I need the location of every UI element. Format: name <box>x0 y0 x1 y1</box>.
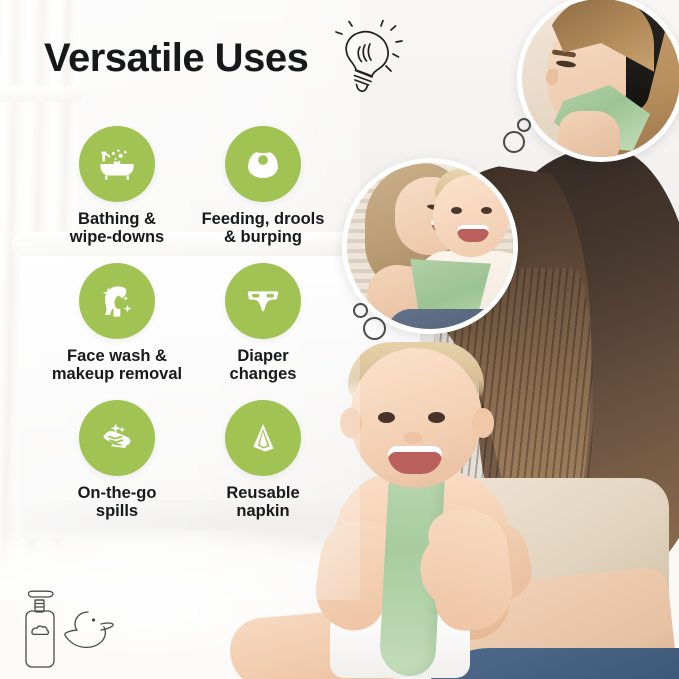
baby-nose <box>404 432 422 444</box>
page-title: Versatile Uses <box>44 36 308 81</box>
face-sparkle-icon <box>95 279 139 323</box>
feature-feeding[interactable]: Feeding, drools & burping <box>190 126 336 247</box>
inset-baby-left-eye <box>451 207 462 214</box>
bottom-left-doodles <box>6 586 122 670</box>
feature-diaper[interactable]: Diaper changes <box>190 263 336 384</box>
baby-smile <box>388 446 442 474</box>
inset-baby-head <box>433 175 509 257</box>
baby-right-ear <box>472 408 494 438</box>
feature-reusable-napkin[interactable]: Reusable napkin <box>190 400 336 521</box>
feature-icon-circle <box>79 126 155 202</box>
inset-baby-right-eye <box>481 207 492 214</box>
lightbulb-doodle-icon <box>328 20 404 98</box>
baby-right-eye <box>428 412 445 423</box>
promo-image: Versatile Uses <box>0 0 679 679</box>
bubble-outline-icon <box>503 131 525 153</box>
feature-face-wash[interactable]: Face wash & makeup removal <box>44 263 190 384</box>
feature-row: On-the-go spills <box>44 400 344 537</box>
diaper-icon <box>242 280 284 322</box>
wiping-hand-icon <box>95 416 139 460</box>
feature-label: On-the-go spills <box>44 484 190 521</box>
bubble-outline-icon <box>517 118 531 132</box>
feature-row: Bathing & wipe-downs Feeding, drools & b <box>44 126 344 263</box>
soap-pump-bottle-doodle-icon <box>26 591 54 667</box>
feature-label: Bathing & wipe-downs <box>44 210 190 247</box>
feature-label: Diaper changes <box>190 347 336 384</box>
feature-grid: Bathing & wipe-downs Feeding, drools & b <box>44 126 344 537</box>
inset-mother-and-baby <box>342 158 518 334</box>
folded-napkin-icon <box>242 417 284 459</box>
bib-icon <box>242 143 284 185</box>
curtain-rod <box>0 86 82 102</box>
feature-icon-circle <box>79 400 155 476</box>
inset-woman-hand <box>558 111 620 162</box>
rubber-duck-doodle-icon <box>65 612 113 647</box>
feature-bathing[interactable]: Bathing & wipe-downs <box>44 126 190 247</box>
inset-baby-smile <box>457 225 489 242</box>
baby-left-eye <box>378 412 395 423</box>
feature-icon-circle <box>225 126 301 202</box>
bubble-outline-icon <box>353 303 368 318</box>
feature-icon-circle <box>225 400 301 476</box>
feature-row: Face wash & makeup removal <box>44 263 344 400</box>
feature-label: Feeding, drools & burping <box>190 210 336 247</box>
inset-woman-nose <box>546 69 558 85</box>
bathtub-icon <box>95 142 139 186</box>
feature-icon-circle <box>225 263 301 339</box>
bubble-outline-icon <box>363 317 386 340</box>
feature-label: Reusable napkin <box>190 484 336 521</box>
feature-on-the-go-spills[interactable]: On-the-go spills <box>44 400 190 521</box>
inset-woman-wiping-face <box>517 0 679 162</box>
feature-label: Face wash & makeup removal <box>44 347 190 384</box>
feature-icon-circle <box>79 263 155 339</box>
